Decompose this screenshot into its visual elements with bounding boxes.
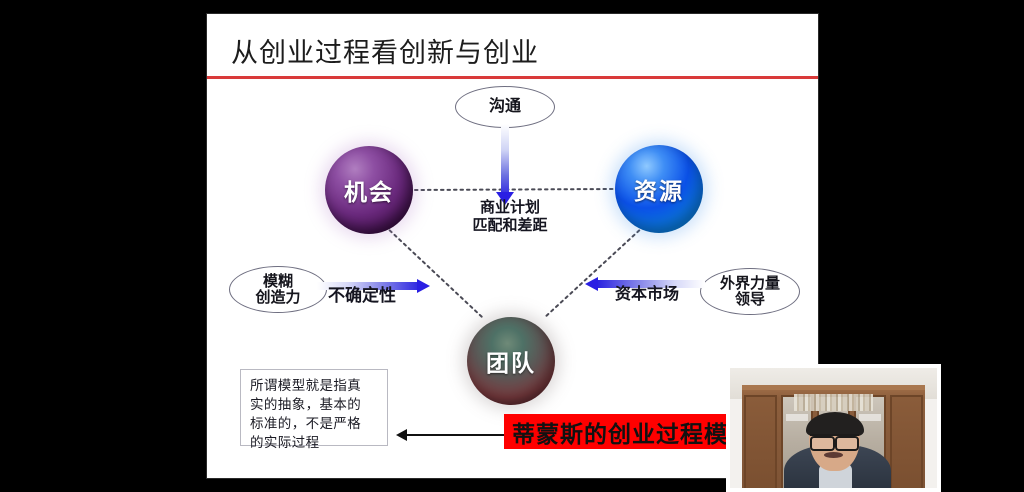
callout-communication-line1: 沟通 — [489, 99, 521, 115]
callout-external-force-line2: 领导 — [735, 292, 765, 307]
cabinet-door — [744, 395, 776, 488]
webcam-video-frame — [730, 368, 937, 488]
note-text-box: 所谓模型就是指真 实的抽象，基本的 标准的，不是严格 的实际过程 — [240, 369, 388, 446]
node-opportunity: 机会 — [325, 146, 413, 234]
label-business-plan: 商业计划 匹配和差距 — [450, 199, 570, 234]
note-callout-arrow-head-icon — [396, 429, 407, 441]
callout-ambiguity: 模糊 创造力 — [229, 266, 327, 313]
node-resources: 资源 — [615, 145, 703, 233]
note-callout-arrow-line — [404, 434, 508, 436]
node-team-label: 团队 — [486, 344, 536, 378]
webcam-background-books — [794, 394, 873, 411]
node-team: 团队 — [467, 317, 555, 405]
video-player-screen: 从创业过程看创新与创业 机会 资源 团队 沟通 模糊 创造力 外界力量 领导 — [0, 0, 1024, 492]
label-business-plan-line1: 商业计划 — [450, 199, 570, 217]
note-line-2: 实的抽象，基本的 — [250, 396, 379, 415]
title-underline-rule — [207, 76, 818, 79]
arrow-capital-market-head-icon — [585, 277, 598, 291]
callout-external-force-line1: 外界力量 — [720, 276, 780, 291]
cabinet-door — [890, 395, 922, 488]
presenter-webcam-overlay[interactable] — [726, 364, 941, 492]
callout-external-force: 外界力量 领导 — [700, 268, 800, 315]
callout-ambiguity-line1: 模糊 — [263, 274, 293, 289]
glasses-lens-right — [835, 436, 860, 451]
presenter-mouth — [824, 452, 843, 458]
glasses-lens-left — [810, 436, 835, 451]
presenter-glasses-icon — [810, 434, 860, 447]
arrow-communication-down — [501, 124, 509, 198]
note-line-1: 所谓模型就是指真 — [250, 377, 379, 396]
label-capital-market: 资本市场 — [615, 286, 679, 305]
arrow-uncertainty-head-icon — [417, 279, 430, 293]
label-business-plan-line2: 匹配和差距 — [450, 217, 570, 235]
callout-communication: 沟通 — [455, 86, 555, 128]
banner-timmons-model-text: 蒂蒙斯的创业过程模型 — [512, 415, 752, 449]
note-line-3: 标准的，不是严格 — [250, 415, 379, 434]
page-title: 从创业过程看创新与创业 — [231, 40, 539, 67]
node-resources-label: 资源 — [634, 172, 684, 206]
node-opportunity-label: 机会 — [344, 173, 394, 207]
callout-ambiguity-line2: 创造力 — [255, 290, 300, 305]
note-line-4: 的实际过程 — [250, 434, 379, 453]
label-uncertainty: 不确定性 — [328, 286, 396, 306]
